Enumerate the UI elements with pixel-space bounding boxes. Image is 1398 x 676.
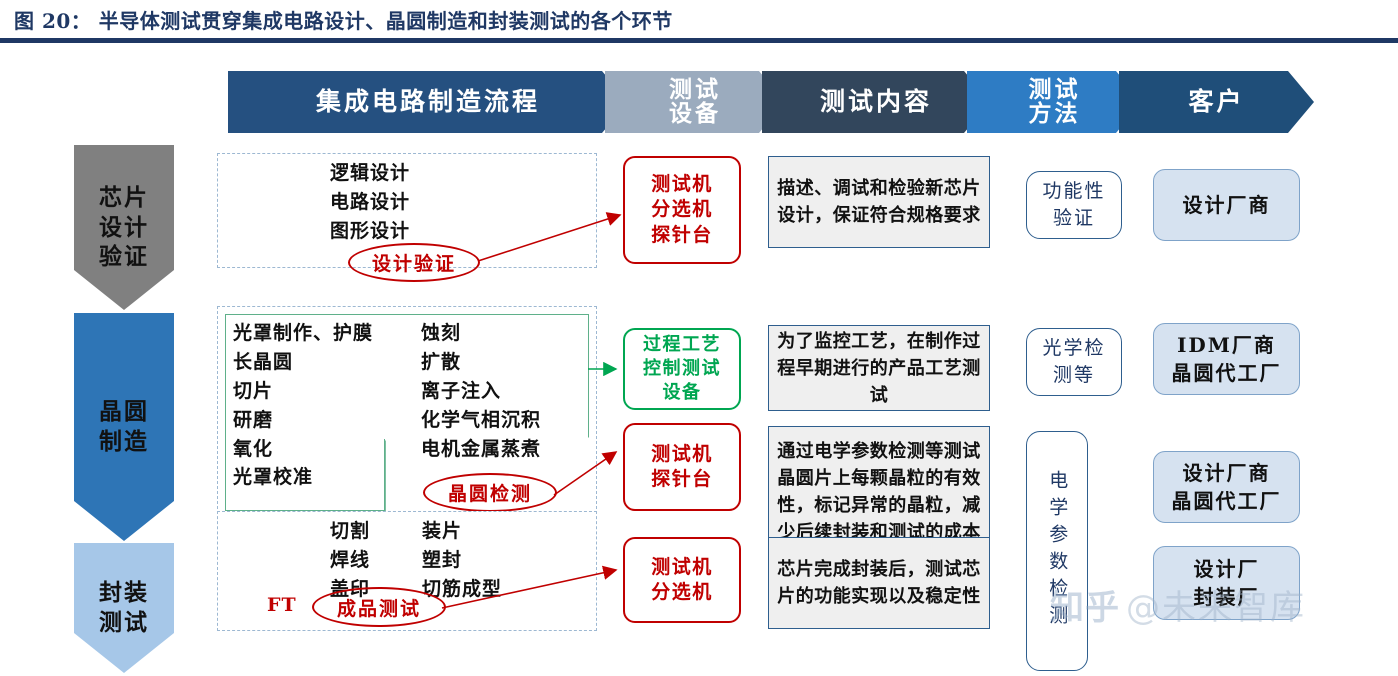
customer-box-row2-idm: IDM厂商 晶圆代工厂: [1153, 323, 1300, 395]
method-box-row2: 光学检 测等: [1026, 328, 1122, 396]
customer-box-row3-label: 设计厂 封装厂: [1194, 555, 1260, 611]
process-item: 图形设计: [330, 217, 410, 246]
header-chevron-equipment: 测试 设备: [605, 71, 785, 133]
header-chevron-customer-label: 客户: [1188, 89, 1244, 115]
header-chevron-process: 集成电路制造流程: [228, 71, 628, 133]
process-item: 氧化: [233, 435, 397, 464]
process-item: 电机金属蒸煮: [421, 435, 541, 464]
highlight-oval-design-verify: 设计验证: [348, 243, 480, 282]
process-item: 研磨: [233, 406, 397, 435]
process-item: 化学气相沉积: [421, 406, 541, 435]
process-item: 焊线: [330, 546, 422, 575]
process-list-row2-right-column: 蚀刻 扩散 离子注入 化学气相沉积 电机金属蒸煮: [421, 319, 541, 492]
equipment-box-row1: 测试机 分选机 探针台: [623, 156, 741, 264]
process-list-row1: 逻辑设计 电路设计 图形设计: [330, 159, 410, 246]
content-box-row1: 描述、调试和检验新芯片设计，保证符合规格要求: [768, 156, 990, 248]
page-title: 图 20： 半导体测试贯穿集成电路设计、晶圆制造和封装测试的各个环节: [0, 5, 673, 34]
equipment-box-row3-label: 测试机 分选机: [651, 555, 713, 605]
equipment-box-row2-cp-label: 测试机探针台: [651, 442, 713, 492]
stage-arrow-packaging-test: 封装 测试: [74, 543, 174, 673]
method-box-row2-label: 光学检 测等: [1042, 335, 1105, 388]
header-chevron-content-label: 测试内容: [820, 89, 932, 115]
equipment-box-row2-process: 过程工艺 控制测试 设备: [623, 328, 741, 410]
stage-arrow-wafer-fab-label: 晶圆 制造: [99, 397, 149, 457]
stage-arrow-chip-design: 芯片 设计 验证: [74, 145, 174, 310]
process-item: 扩散: [421, 348, 541, 377]
connector-row3: [438, 558, 628, 620]
customer-box-row3: 设计厂 封装厂: [1153, 546, 1300, 620]
highlight-oval-final-test: 成品测试: [312, 587, 446, 627]
process-item: 光罩校准: [233, 463, 397, 492]
content-box-row3-text: 芯片完成封装后，测试芯片的功能实现以及稳定性: [777, 556, 981, 610]
stage-arrow-chip-design-label: 芯片 设计 验证: [99, 183, 149, 273]
method-box-row1: 功能性 验证: [1026, 171, 1122, 239]
customer-box-row2-design: 设计厂商 晶圆代工厂: [1153, 451, 1300, 523]
process-tag-ft-label: FT: [267, 594, 297, 616]
content-box-row1-text: 描述、调试和检验新芯片设计，保证符合规格要求: [777, 175, 981, 229]
process-item: 长晶圆: [233, 348, 397, 377]
figure-title-bar: 图 20： 半导体测试贯穿集成电路设计、晶圆制造和封装测试的各个环节: [0, 0, 1398, 38]
customer-box-row1-label: 设计厂商: [1183, 191, 1271, 219]
stage-arrow-packaging-test-label: 封装 测试: [99, 578, 149, 638]
process-item: 离子注入: [421, 377, 541, 406]
process-item: 光罩制作、护膜: [233, 319, 397, 348]
header-chevron-customer: 客户: [1119, 71, 1314, 133]
process-list-row2: 光罩制作、护膜 长晶圆 切片 研磨 氧化 光罩校准 蚀刻 扩散 离子注入 化学气…: [233, 319, 541, 492]
content-box-row2-process: 为了监控工艺，在制作过程早期进行的产品工艺测试: [768, 325, 990, 411]
process-list-row1-column: 逻辑设计 电路设计 图形设计: [330, 159, 410, 246]
header-chevron-equipment-label: 测试 设备: [669, 78, 721, 126]
process-list-row2-left-column: 光罩制作、护膜 长晶圆 切片 研磨 氧化 光罩校准: [233, 319, 397, 492]
process-item: 逻辑设计: [330, 159, 410, 188]
equipment-box-row1-label: 测试机 分选机 探针台: [651, 172, 713, 247]
process-tag-ft: FT: [267, 594, 297, 616]
connector-row2-green: [588, 359, 628, 379]
header-chevron-process-label: 集成电路制造流程: [316, 89, 540, 115]
header-chevron-method: 测试 方法: [967, 71, 1142, 133]
highlight-oval-design-verify-label: 设计验证: [372, 249, 456, 276]
method-box-electrical-param-label: 电学参数检测: [1044, 470, 1071, 632]
highlight-oval-final-test-label: 成品测试: [337, 594, 421, 621]
process-item: 装片: [422, 517, 502, 546]
header-chevron-method-label: 测试 方法: [1029, 78, 1081, 126]
process-item: 切片: [233, 377, 397, 406]
highlight-oval-wafer-test-label: 晶圆检测: [448, 479, 532, 506]
highlight-oval-wafer-test: 晶圆检测: [423, 473, 557, 512]
stage-arrow-wafer-fab: 晶圆 制造: [74, 313, 174, 541]
header-chevron-content: 测试内容: [762, 71, 990, 133]
content-box-row3: 芯片完成封装后，测试芯片的功能实现以及稳定性: [768, 537, 990, 629]
content-box-row2-process-text: 为了监控工艺，在制作过程早期进行的产品工艺测试: [777, 328, 981, 409]
content-box-row2-cp-text: 通过电学参数检测等测试晶圆片上每颗晶粒的有效性，标记异常的晶粒，减少后续封装和测…: [777, 438, 981, 546]
process-item: 蚀刻: [421, 319, 541, 348]
equipment-box-row2-cp: 测试机探针台: [623, 423, 741, 511]
customer-box-row1: 设计厂商: [1153, 169, 1300, 241]
equipment-box-row3: 测试机 分选机: [623, 537, 741, 623]
method-box-electrical-param: 电学参数检测: [1026, 431, 1088, 671]
customer-box-row2-idm-label: IDM厂商 晶圆代工厂: [1172, 331, 1282, 387]
diagram-canvas: 集成电路制造流程 测试 设备 测试内容 测试 方法 客户 芯片 设计 验证 晶圆…: [0, 43, 1398, 676]
process-item: 电路设计: [330, 188, 410, 217]
method-box-row1-label: 功能性 验证: [1042, 178, 1105, 231]
customer-box-row2-design-label: 设计厂商 晶圆代工厂: [1172, 459, 1282, 515]
process-item: 切割: [330, 517, 422, 546]
equipment-box-row2-process-label: 过程工艺 控制测试 设备: [643, 333, 721, 404]
